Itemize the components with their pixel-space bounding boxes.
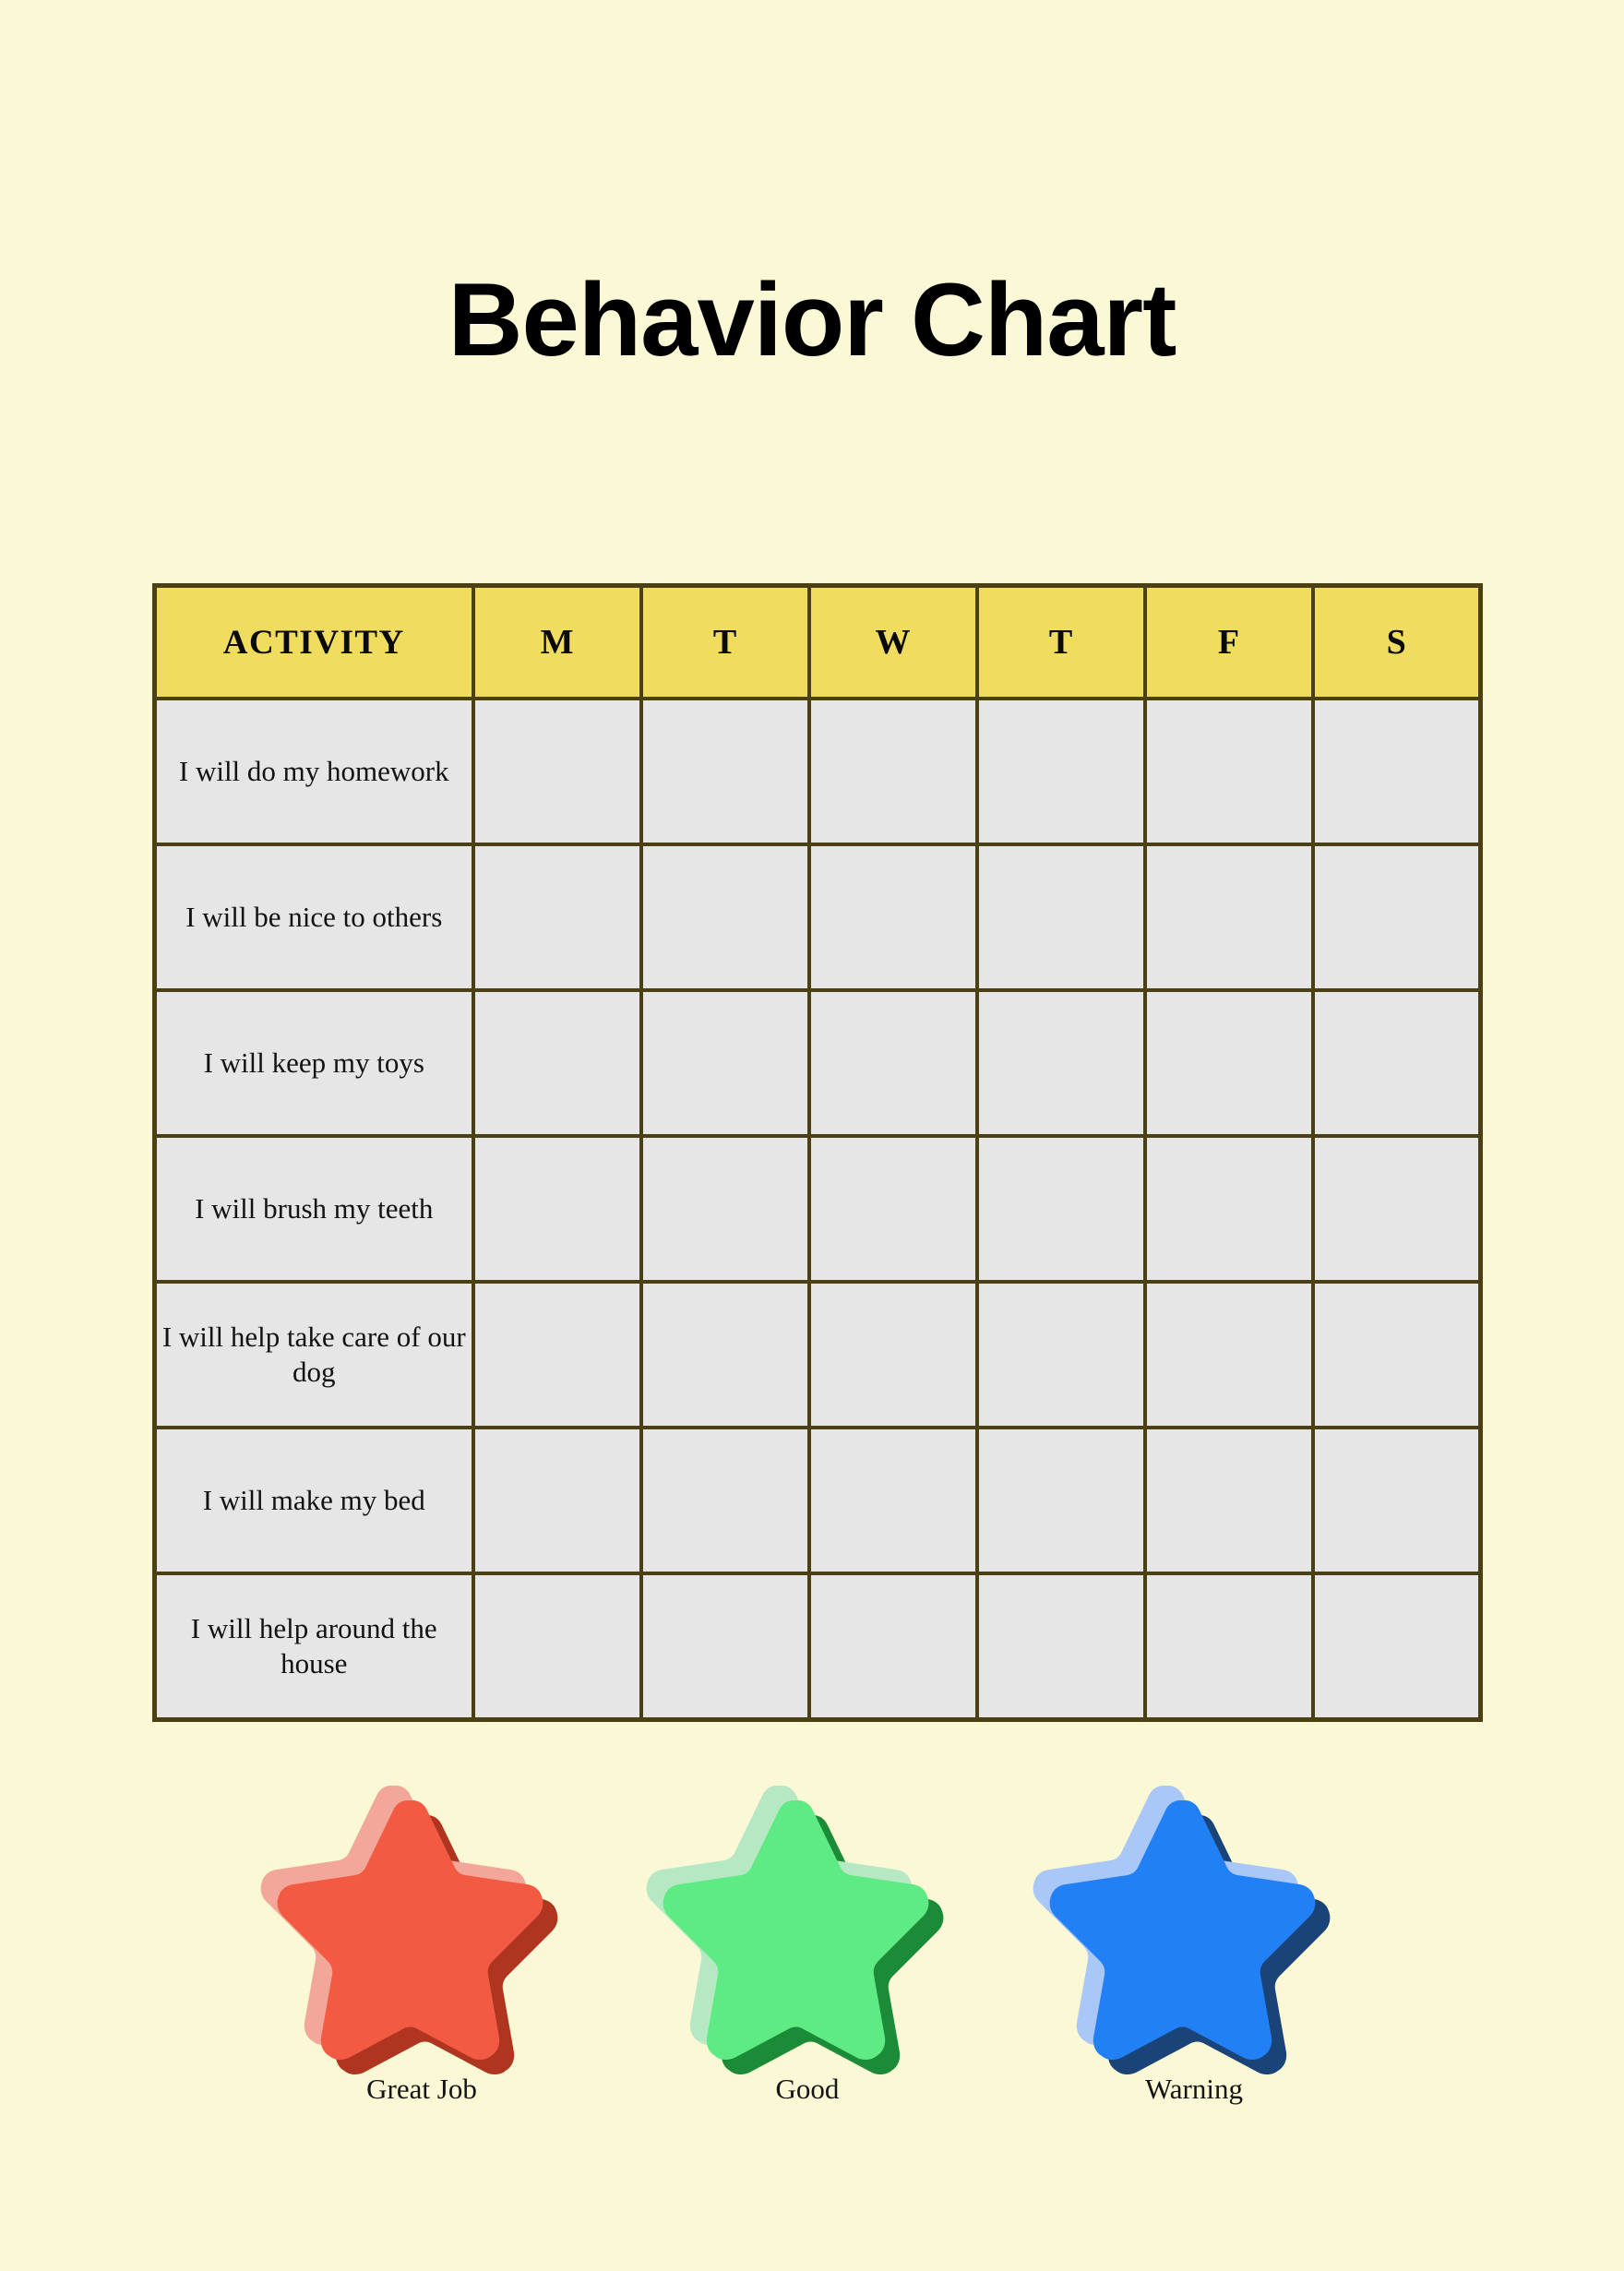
star-icon-svg bbox=[283, 1786, 560, 2053]
behavior-chart-page: Behavior Chart ACTIVITY M T W T F S bbox=[0, 0, 1624, 2271]
mark-cell-tue[interactable] bbox=[641, 1282, 809, 1428]
activity-label: I will help around the house bbox=[155, 1573, 473, 1720]
activity-label: I will brush my teeth bbox=[155, 1136, 473, 1282]
mark-cell-wed[interactable] bbox=[809, 990, 977, 1136]
mark-cell-fri[interactable] bbox=[1145, 699, 1313, 844]
mark-cell-thu[interactable] bbox=[977, 1428, 1145, 1573]
mark-cell-tue[interactable] bbox=[641, 699, 809, 844]
mark-cell-wed[interactable] bbox=[809, 699, 977, 844]
activity-label: I will help take care of our dog bbox=[155, 1282, 473, 1428]
mark-cell-wed[interactable] bbox=[809, 1428, 977, 1573]
behavior-table: ACTIVITY M T W T F S I will do my homewo… bbox=[152, 583, 1483, 1722]
mark-cell-mon[interactable] bbox=[473, 1573, 641, 1720]
star-icon bbox=[283, 1786, 560, 2053]
mark-cell-thu[interactable] bbox=[977, 699, 1145, 844]
legend-item-warning: Warning bbox=[1028, 1786, 1360, 2155]
legend-label: Great Job bbox=[256, 2072, 588, 2107]
mark-cell-tue[interactable] bbox=[641, 1136, 809, 1282]
mark-cell-mon[interactable] bbox=[473, 1282, 641, 1428]
table-row: I will brush my teeth bbox=[155, 1136, 1481, 1282]
mark-cell-thu[interactable] bbox=[977, 1136, 1145, 1282]
activity-label: I will keep my toys bbox=[155, 990, 473, 1136]
table-row: I will help around the house bbox=[155, 1573, 1481, 1720]
mark-cell-wed[interactable] bbox=[809, 1573, 977, 1720]
mark-cell-tue[interactable] bbox=[641, 1428, 809, 1573]
mark-cell-sat[interactable] bbox=[1313, 699, 1481, 844]
column-header-wednesday: W bbox=[809, 586, 977, 699]
mark-cell-fri[interactable] bbox=[1145, 844, 1313, 990]
legend-label: Warning bbox=[1028, 2072, 1360, 2107]
mark-cell-wed[interactable] bbox=[809, 1282, 977, 1428]
mark-cell-sat[interactable] bbox=[1313, 990, 1481, 1136]
mark-cell-thu[interactable] bbox=[977, 1282, 1145, 1428]
legend-item-great-job: Great Job bbox=[256, 1786, 588, 2155]
mark-cell-fri[interactable] bbox=[1145, 1573, 1313, 1720]
legend-item-good: Good bbox=[641, 1786, 973, 2155]
mark-cell-mon[interactable] bbox=[473, 990, 641, 1136]
table-header-row: ACTIVITY M T W T F S bbox=[155, 586, 1481, 699]
mark-cell-mon[interactable] bbox=[473, 1136, 641, 1282]
mark-cell-mon[interactable] bbox=[473, 1428, 641, 1573]
mark-cell-mon[interactable] bbox=[473, 699, 641, 844]
activity-label: I will do my homework bbox=[155, 699, 473, 844]
column-header-thursday: T bbox=[977, 586, 1145, 699]
mark-cell-sat[interactable] bbox=[1313, 844, 1481, 990]
mark-cell-fri[interactable] bbox=[1145, 1136, 1313, 1282]
mark-cell-sat[interactable] bbox=[1313, 1573, 1481, 1720]
column-header-activity: ACTIVITY bbox=[155, 586, 473, 699]
mark-cell-tue[interactable] bbox=[641, 1573, 809, 1720]
activity-label: I will make my bed bbox=[155, 1428, 473, 1573]
page-title: Behavior Chart bbox=[0, 262, 1624, 378]
column-header-friday: F bbox=[1145, 586, 1313, 699]
table-row: I will keep my toys bbox=[155, 990, 1481, 1136]
legend: Great Job Good Warning bbox=[152, 1786, 1478, 2173]
mark-cell-sat[interactable] bbox=[1313, 1282, 1481, 1428]
mark-cell-wed[interactable] bbox=[809, 844, 977, 990]
table-row: I will help take care of our dog bbox=[155, 1282, 1481, 1428]
mark-cell-tue[interactable] bbox=[641, 844, 809, 990]
table-row: I will do my homework bbox=[155, 699, 1481, 844]
mark-cell-tue[interactable] bbox=[641, 990, 809, 1136]
table-row: I will make my bed bbox=[155, 1428, 1481, 1573]
column-header-saturday: S bbox=[1313, 586, 1481, 699]
mark-cell-mon[interactable] bbox=[473, 844, 641, 990]
star-icon-svg bbox=[669, 1786, 946, 2053]
mark-cell-thu[interactable] bbox=[977, 1573, 1145, 1720]
mark-cell-sat[interactable] bbox=[1313, 1136, 1481, 1282]
mark-cell-fri[interactable] bbox=[1145, 1428, 1313, 1573]
behavior-table-wrap: ACTIVITY M T W T F S I will do my homewo… bbox=[152, 583, 1478, 1722]
mark-cell-fri[interactable] bbox=[1145, 1282, 1313, 1428]
mark-cell-thu[interactable] bbox=[977, 990, 1145, 1136]
column-header-tuesday: T bbox=[641, 586, 809, 699]
table-header: ACTIVITY M T W T F S bbox=[155, 586, 1481, 699]
mark-cell-thu[interactable] bbox=[977, 844, 1145, 990]
column-header-monday: M bbox=[473, 586, 641, 699]
table-row: I will be nice to others bbox=[155, 844, 1481, 990]
star-icon bbox=[669, 1786, 946, 2053]
star-icon-svg bbox=[1056, 1786, 1332, 2053]
legend-label: Good bbox=[641, 2072, 973, 2107]
activity-label: I will be nice to others bbox=[155, 844, 473, 990]
mark-cell-sat[interactable] bbox=[1313, 1428, 1481, 1573]
star-icon bbox=[1056, 1786, 1332, 2053]
mark-cell-wed[interactable] bbox=[809, 1136, 977, 1282]
table-body: I will do my homework I will be nice to … bbox=[155, 699, 1481, 1720]
mark-cell-fri[interactable] bbox=[1145, 990, 1313, 1136]
